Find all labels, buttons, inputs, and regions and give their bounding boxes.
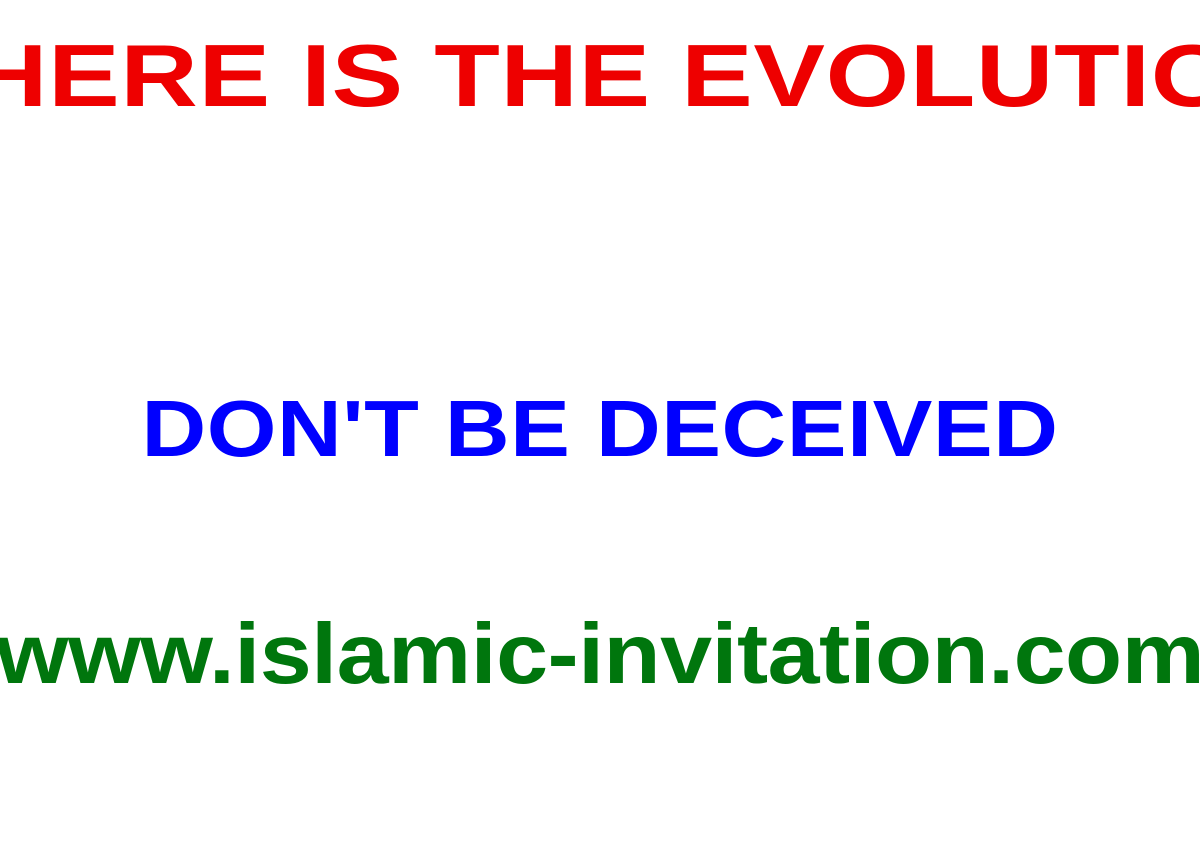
website-url-text: www.islamic-invitation.com [0,612,1200,697]
statement-text: DON'T BE DECEIVED [0,389,1200,469]
poster-canvas: WHERE IS THE EVOLUTION? DON'T BE DECEIVE… [0,0,1200,852]
headline-text: WHERE IS THE EVOLUTION? [0,32,1200,120]
